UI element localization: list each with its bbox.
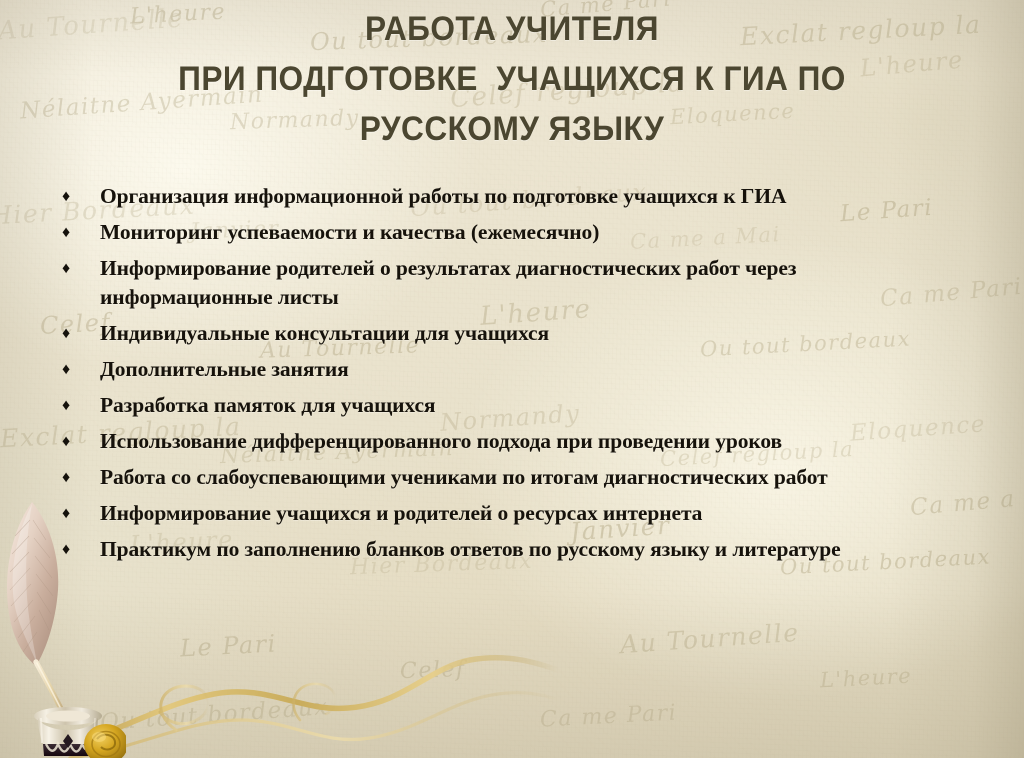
diamond-bullet-icon: ♦ <box>58 463 100 492</box>
list-item: ♦Практикум по заполнению бланков ответов… <box>58 535 958 564</box>
list-item-text: Работа со слабоуспевающими учениками по … <box>100 463 958 492</box>
list-item: ♦Разработка памяток для учащихся <box>58 391 958 420</box>
list-item-text: Разработка памяток для учащихся <box>100 391 958 420</box>
slide-title: РАБОТА УЧИТЕЛЯ ПРИ ПОДГОТОВКЕ УЧАЩИХСЯ К… <box>36 4 988 154</box>
diamond-bullet-icon: ♦ <box>58 182 100 211</box>
diamond-bullet-icon: ♦ <box>58 254 100 283</box>
list-item: ♦Использование дифференцированного подхо… <box>58 427 958 456</box>
list-item: ♦Работа со слабоуспевающими учениками по… <box>58 463 958 492</box>
title-line-3: РУССКОМУ ЯЗЫКУ <box>36 104 988 154</box>
bullet-list: ♦Организация информационной работы по по… <box>58 182 958 571</box>
title-line-2: ПРИ ПОДГОТОВКЕ УЧАЩИХСЯ К ГИА ПО <box>36 54 988 104</box>
diamond-bullet-icon: ♦ <box>58 427 100 456</box>
list-item-text: Информирование родителей о результатах д… <box>100 254 958 312</box>
list-item: ♦Информирование учащихся и родителей о р… <box>58 499 958 528</box>
diamond-bullet-icon: ♦ <box>58 535 100 564</box>
list-item: ♦Информирование родителей о результатах … <box>58 254 958 312</box>
list-item: ♦Дополнительные занятия <box>58 355 958 384</box>
diamond-bullet-icon: ♦ <box>58 355 100 384</box>
list-item-text: Организация информационной работы по под… <box>100 182 958 211</box>
list-item: ♦Организация информационной работы по по… <box>58 182 958 211</box>
list-item: ♦Индивидуальные консультации для учащихс… <box>58 319 958 348</box>
list-item-text: Индивидуальные консультации для учащихся <box>100 319 958 348</box>
list-item-text: Использование дифференцированного подход… <box>100 427 958 456</box>
title-line-1: РАБОТА УЧИТЕЛЯ <box>36 4 988 54</box>
diamond-bullet-icon: ♦ <box>58 391 100 420</box>
diamond-bullet-icon: ♦ <box>58 319 100 348</box>
diamond-bullet-icon: ♦ <box>58 499 100 528</box>
presentation-slide: Au TournelleL'heureOu tout bordeauxCa me… <box>0 0 1024 758</box>
list-item-text: Мониторинг успеваемости и качества (ежем… <box>100 218 958 247</box>
list-item-text: Дополнительные занятия <box>100 355 958 384</box>
diamond-bullet-icon: ♦ <box>58 218 100 247</box>
list-item-text: Практикум по заполнению бланков ответов … <box>100 535 958 564</box>
list-item-text: Информирование учащихся и родителей о ре… <box>100 499 958 528</box>
list-item: ♦Мониторинг успеваемости и качества (еже… <box>58 218 958 247</box>
